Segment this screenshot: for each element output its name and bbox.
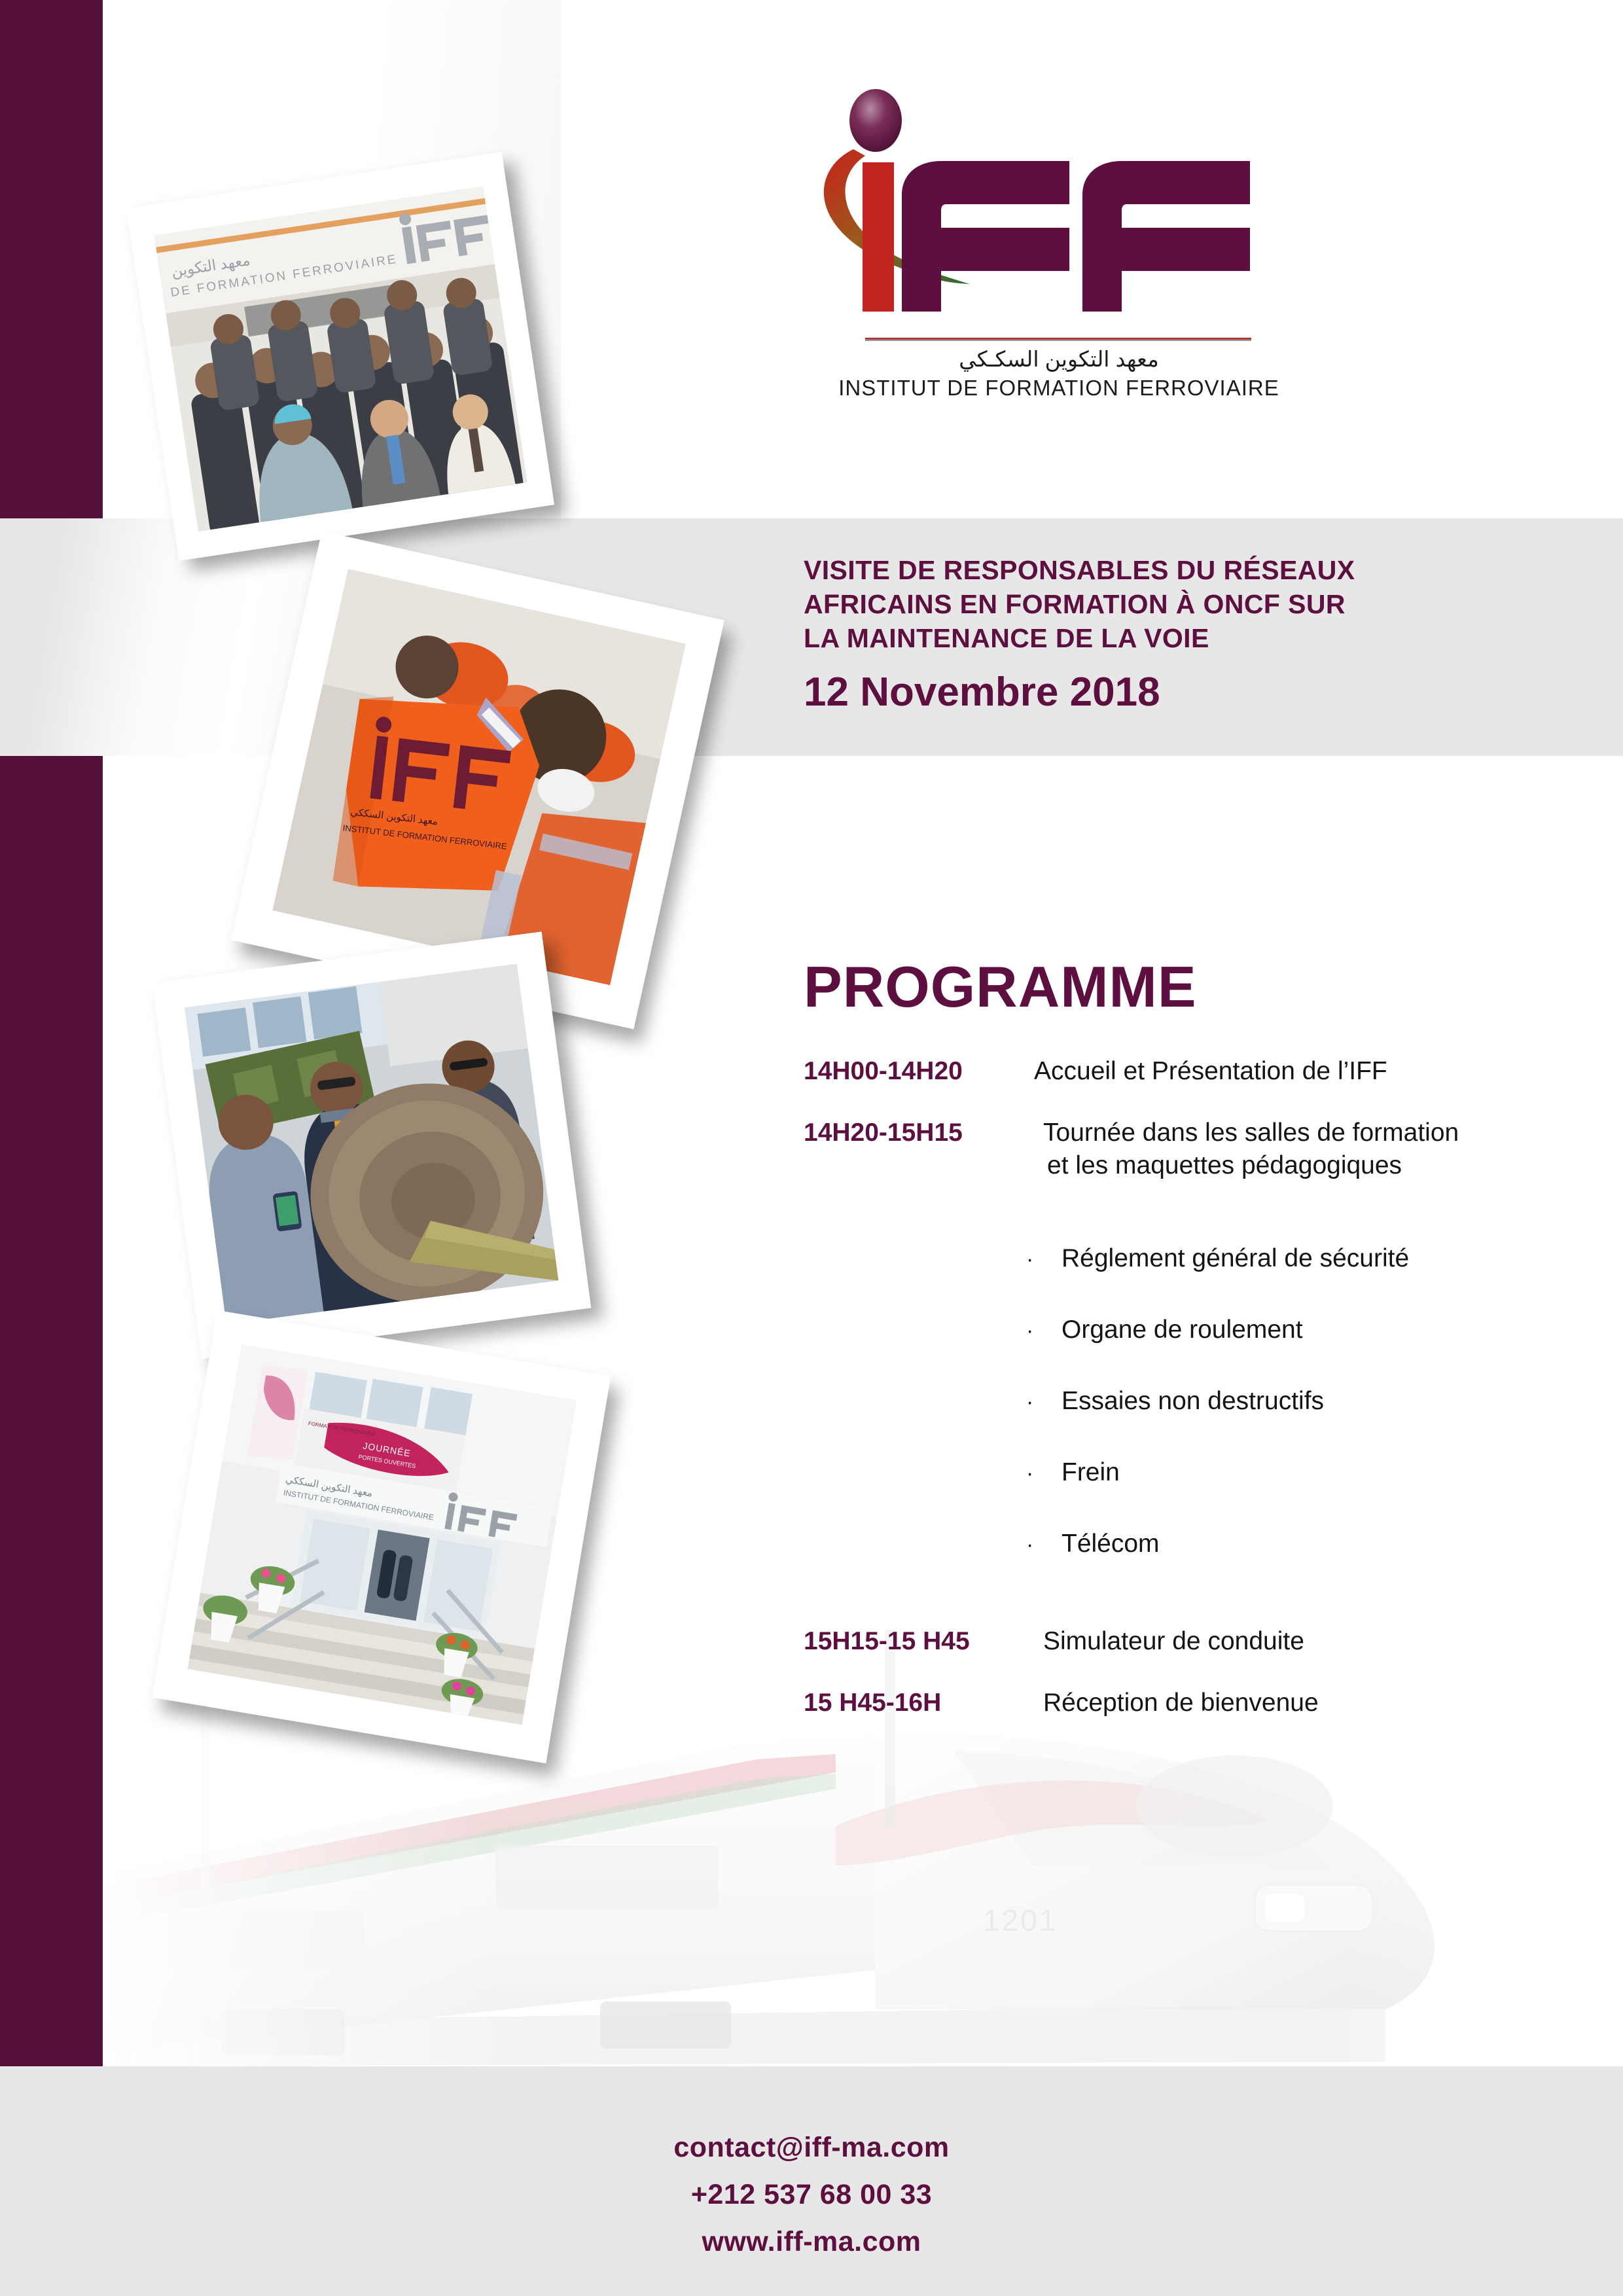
sidebar-purple-bottom — [0, 756, 103, 2066]
programme-row: 14H20-15H15 Tournée dans les salles de f… — [804, 1117, 1609, 1182]
programme-bullet-label: Frein — [1061, 1458, 1120, 1488]
bullet-marker-icon: · — [1026, 1244, 1061, 1274]
programme-bullet-label: Essaies non destructifs — [1061, 1386, 1324, 1416]
programme-row: 14H00-14H20 Accueil et Présentation de l… — [804, 1055, 1609, 1088]
programme-row-time: 14H20-15H15 — [804, 1117, 1043, 1149]
contact-website[interactable]: www.iff-ma.com — [0, 2218, 1623, 2265]
programme-bullet-item: · Réglement général de sécurité — [1026, 1244, 1615, 1274]
programme-row-time: 14H00-14H20 — [804, 1055, 1034, 1088]
bullet-marker-icon: · — [1026, 1387, 1061, 1417]
programme-bullet-list: · Réglement général de sécurité · Organe… — [1026, 1244, 1615, 1600]
logo-arabic-text: معهد التكوين السكـكي — [959, 347, 1159, 372]
contact-email[interactable]: contact@iff-ma.com — [0, 2124, 1623, 2171]
photo-group-in-front-of-building: ﻣﻌﻬﺪ ﺍﻟﺘﻜﻮﻳﻦ DE FORMATION FERROVIAIRE — [126, 152, 554, 561]
programme-bullet-item: · Télécom — [1026, 1529, 1615, 1560]
event-title-line-1: VISITE DE RESPONSABLES DU RÉSEAUX — [804, 553, 1589, 587]
bullet-marker-icon: · — [1026, 1316, 1061, 1346]
programme-row-desc: Réception de bienvenue — [1043, 1687, 1319, 1719]
photo-wheelset-image — [185, 964, 558, 1325]
contact-phone[interactable]: +212 537 68 00 33 — [0, 2171, 1623, 2218]
sidebar-purple-top — [0, 0, 103, 518]
photo-entrance-image: JOURNÉE PORTES OUVERTES FORMATION FERROV… — [188, 1345, 577, 1725]
poster-page: 1201 ﻣﻌﻬﺪ ﺍﻟﺘﻜﻮﻳﻦ DE FORMATION FERROVIAI — [0, 0, 1623, 2296]
programme-heading: PROGRAMME — [804, 957, 1197, 1017]
iff-logo: معهد التكوين السكـكي INSTITUT DE FORMATI… — [805, 79, 1329, 419]
bullet-marker-icon: · — [1026, 1458, 1061, 1488]
event-title-line-3: LA MAINTENANCE DE LA VOIE — [804, 621, 1589, 655]
programme-bullet-label: Organe de roulement — [1061, 1315, 1303, 1345]
programme-rows-top: 14H00-14H20 Accueil et Présentation de l… — [804, 1055, 1609, 1211]
programme-row-desc-line1: Tournée dans les salles de formation — [1043, 1119, 1459, 1147]
event-date: 12 Novembre 2018 — [804, 667, 1589, 718]
programme-row-desc: Accueil et Présentation de l’IFF — [1034, 1055, 1387, 1088]
programme-bullet-label: Réglement général de sécurité — [1061, 1244, 1409, 1274]
programme-row-desc-line2: et les maquettes pédagogiques — [1047, 1149, 1459, 1182]
photo-wheelset-inspection — [152, 931, 592, 1359]
programme-bullet-label: Télécom — [1061, 1529, 1160, 1559]
programme-bullet-item: · Essaies non destructifs — [1026, 1386, 1615, 1417]
programme-bullet-item: · Organe de roulement — [1026, 1315, 1615, 1346]
programme-bullet-item: · Frein — [1026, 1458, 1615, 1488]
logo-subtitle-text: INSTITUT DE FORMATION FERROVIAIRE — [838, 376, 1279, 400]
photo-vest-image: ﻣﻌﻬﺪ ﺍﻟﺘﻜﻮﻳﻦ ﺍﻟﺴﻜﻜﻲ INSTITUT DE FORMATIO… — [273, 569, 686, 986]
bullet-marker-icon: · — [1026, 1530, 1061, 1560]
programme-row-desc-line1: Accueil et Présentation de l’IFF — [1034, 1057, 1387, 1085]
photo-group-image: ﻣﻌﻬﺪ ﺍﻟﺘﻜﻮﻳﻦ DE FORMATION FERROVIAIRE — [154, 187, 527, 531]
programme-rows-bottom: 15H15-15 H45 Simulateur de conduite 15 H… — [804, 1625, 1609, 1748]
programme-row: 15 H45-16H Réception de bienvenue — [804, 1687, 1609, 1719]
programme-row-time: 15H15-15 H45 — [804, 1625, 1043, 1658]
programme-row-desc: Simulateur de conduite — [1043, 1625, 1304, 1658]
programme-row-time: 15 H45-16H — [804, 1687, 1043, 1719]
programme-row-desc: Tournée dans les salles de formation et … — [1043, 1117, 1459, 1182]
contact-block: contact@iff-ma.com +212 537 68 00 33 www… — [0, 2124, 1623, 2265]
photo-building-entrance: JOURNÉE PORTES OUVERTES FORMATION FERROV… — [152, 1310, 611, 1763]
programme-row: 15H15-15 H45 Simulateur de conduite — [804, 1625, 1609, 1658]
event-header: VISITE DE RESPONSABLES DU RÉSEAUX AFRICA… — [804, 553, 1589, 718]
event-title-line-2: AFRICAINS EN FORMATION À ONCF SUR — [804, 587, 1589, 621]
